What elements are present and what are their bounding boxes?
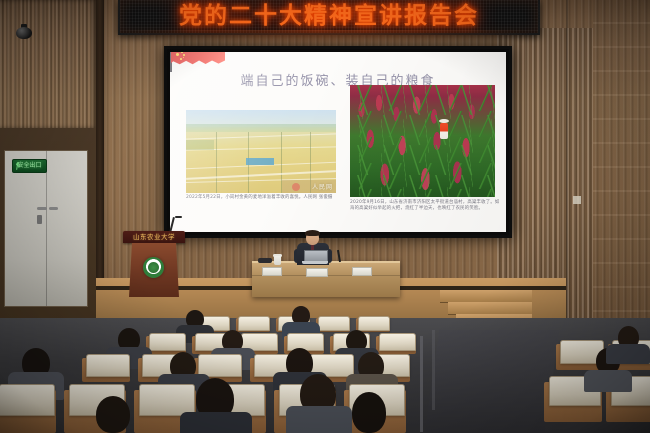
left-wall-upper — [0, 0, 96, 128]
door-handle-icon[interactable] — [37, 207, 47, 210]
water-cup — [274, 256, 281, 265]
chinese-flag-icon — [170, 52, 226, 72]
podium-university-name: 山东农业大学 — [123, 232, 185, 242]
center-aisle — [425, 330, 559, 433]
wall-seam — [566, 0, 568, 330]
door-seam — [46, 151, 47, 306]
speaker-laptop[interactable] — [302, 250, 328, 264]
wall-outlet — [573, 196, 581, 204]
emergency-exit-sign: 安全出口 — [12, 159, 47, 173]
door-lock-icon — [37, 215, 42, 224]
university-emblem-icon — [143, 257, 164, 278]
desk-object — [258, 258, 272, 263]
projection-screen-frame: 端自己的饭碗、装自己的粮食 人民网 — [164, 46, 512, 238]
name-plate — [306, 268, 328, 277]
photo-watermark: 人民网 — [312, 182, 333, 191]
far-right-wall — [593, 0, 650, 330]
aisle-rail — [420, 336, 423, 432]
led-banner: 党的二十大精神宣讲报告会 — [118, 0, 540, 35]
watermark-logo — [292, 183, 300, 191]
led-banner-text: 党的二十大精神宣讲报告会 — [120, 2, 538, 30]
door-handle-icon[interactable] — [49, 207, 58, 210]
exit-sign-label: 安全出口 — [17, 163, 41, 169]
photo-caption-left: 2022年5月22日，小岗村金黄的麦地洋溢着丰收的喜悦。人民网 张俊摄 — [186, 195, 342, 201]
name-plate — [352, 267, 372, 276]
white-double-door[interactable] — [4, 150, 88, 307]
auditorium-scene: 安全出口 党的二十大精神宣讲报告会 端自己的饭碗、装自己的粮食 — [0, 0, 650, 433]
name-plate — [262, 267, 282, 276]
aerial-farmland-photo: 人民网 — [186, 110, 336, 193]
podium-top: 山东农业大学 — [123, 231, 185, 243]
dome-security-camera-icon — [16, 24, 32, 39]
photo-caption-right: 2020年9月16日，山东省济南市济阳区太平街道台庙村，高粱丰收了。如海的高粱好… — [350, 200, 500, 212]
podium-microphone-head-icon — [175, 216, 182, 218]
aisle-rail — [432, 330, 435, 410]
sorghum-field-photo — [350, 85, 495, 197]
projection-screen: 端自己的饭碗、装自己的粮食 人民网 — [170, 52, 506, 232]
farmer-figure — [438, 119, 450, 141]
sorghum-leaves — [350, 85, 495, 197]
lectern-podium[interactable]: 山东农业大学 — [123, 231, 185, 297]
